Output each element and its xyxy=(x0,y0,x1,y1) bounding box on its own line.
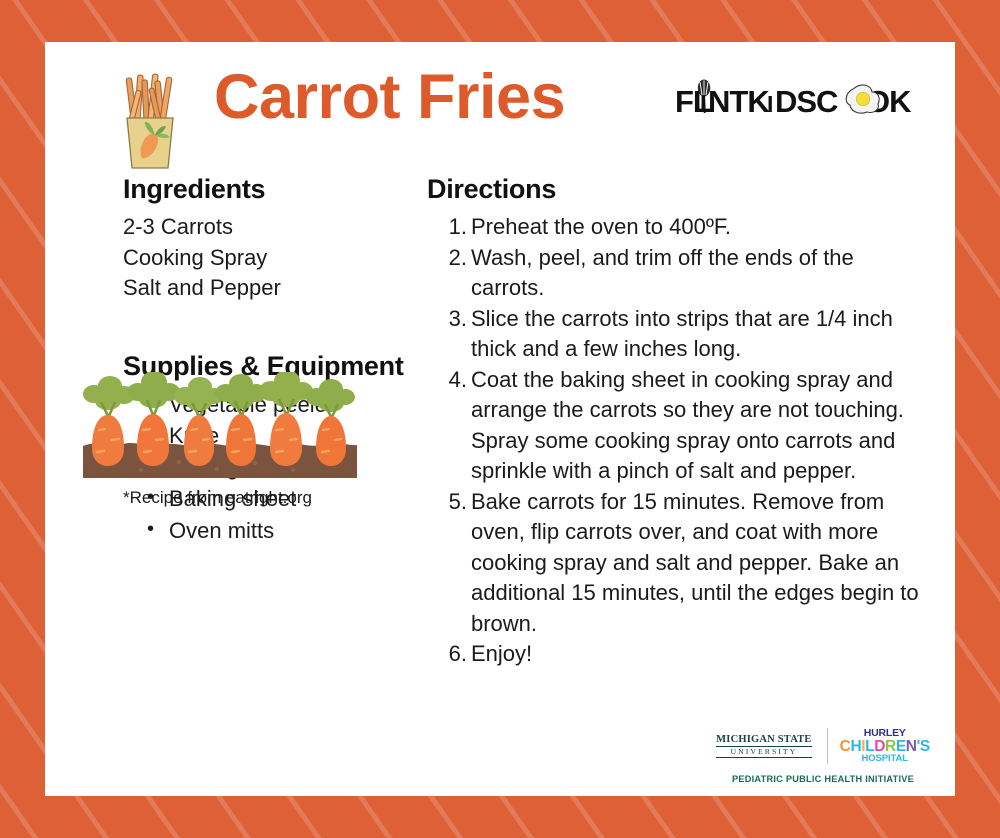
childrens-letter: R xyxy=(885,738,896,755)
ingredient-line: 2-3 Carrots xyxy=(123,212,423,243)
svg-text:DS: DS xyxy=(775,84,816,119)
directions-heading: Directions xyxy=(427,174,929,205)
right-column: Directions 1. Preheat the oven to 400ºF.… xyxy=(423,174,929,670)
footer-logos: MICHIGAN STATE UNIVERSITY HURLEY CHILDRE… xyxy=(715,724,931,784)
recipe-source-note: *Recipe from eatright.org xyxy=(123,488,312,508)
ingredient-line: Salt and Pepper xyxy=(123,273,423,304)
hurley-childrens-hospital-logo: HURLEY CHILDREN'S HOSPITAL xyxy=(836,728,930,764)
ingredients-section: Ingredients 2-3 Carrots Cooking Spray Sa… xyxy=(123,174,423,304)
step-number: 6. xyxy=(429,639,467,670)
carrot-fries-carton-icon xyxy=(119,72,181,172)
directions-list: 1. Preheat the oven to 400ºF. 2. Wash, p… xyxy=(429,212,929,670)
childrens-letter: L xyxy=(865,738,874,755)
svg-text:I: I xyxy=(767,91,773,117)
childrens-letter: N xyxy=(906,738,917,755)
card-body: Ingredients 2-3 Carrots Cooking Spray Sa… xyxy=(71,174,929,670)
list-item: Oven mitts xyxy=(145,515,423,547)
childrens-letter: D xyxy=(874,738,885,755)
step-number: 3. xyxy=(429,304,467,335)
step-text: Slice the carrots into strips that are 1… xyxy=(471,306,893,362)
hospital-wordmark: HOSPITAL xyxy=(840,754,930,764)
step-text: Coat the baking sheet in cooking spray a… xyxy=(471,367,904,484)
step-text: Enjoy! xyxy=(471,641,532,666)
msu-line-2: UNIVERSITY xyxy=(716,748,811,758)
direction-step: 6. Enjoy! xyxy=(429,639,929,670)
ingredient-line: Cooking Spray xyxy=(123,243,423,274)
direction-step: 1. Preheat the oven to 400ºF. xyxy=(429,212,929,243)
childrens-letter: H xyxy=(850,738,861,755)
michigan-state-university-logo: MICHIGAN STATE UNIVERSITY xyxy=(716,734,818,758)
left-column: Ingredients 2-3 Carrots Cooking Spray Sa… xyxy=(71,174,423,670)
ingredients-heading: Ingredients xyxy=(123,174,423,205)
childrens-letter: C xyxy=(840,738,851,755)
childrens-wordmark: CHILDREN'S xyxy=(840,739,930,755)
direction-step: 4. Coat the baking sheet in cooking spra… xyxy=(429,365,929,487)
page-title: Carrot Fries xyxy=(214,66,565,129)
direction-step: 5. Bake carrots for 15 minutes. Remove f… xyxy=(429,487,929,640)
direction-step: 3. Slice the carrots into strips that ar… xyxy=(429,304,929,365)
childrens-letter: E xyxy=(896,738,906,755)
step-number: 2. xyxy=(429,243,467,274)
step-text: Bake carrots for 15 minutes. Remove from… xyxy=(471,489,919,636)
step-number: 1. xyxy=(429,212,467,243)
logo-divider xyxy=(827,728,828,764)
svg-text:NTK: NTK xyxy=(708,84,770,119)
logo-row: MICHIGAN STATE UNIVERSITY HURLEY CHILDRE… xyxy=(715,724,931,768)
msu-line-1: MICHIGAN STATE xyxy=(716,734,811,747)
step-number: 5. xyxy=(429,487,467,518)
recipe-card-page: Carrot Fries FL NTK DS C OK I I xyxy=(0,0,1000,838)
svg-text:C: C xyxy=(816,84,838,119)
pediatric-public-health-initiative-text: PEDIATRIC PUBLIC HEALTH INITIATIVE xyxy=(715,774,931,784)
childrens-letter: S xyxy=(920,738,930,755)
recipe-card: Carrot Fries FL NTK DS C OK I I xyxy=(45,42,955,796)
step-text: Wash, peel, and trim off the ends of the… xyxy=(471,245,854,301)
step-text: Preheat the oven to 400ºF. xyxy=(471,214,731,239)
flint-kids-cook-logo: FL NTK DS C OK I I xyxy=(675,78,923,124)
card-header: Carrot Fries FL NTK DS C OK I I xyxy=(71,60,929,168)
direction-step: 2. Wash, peel, and trim off the ends of … xyxy=(429,243,929,304)
step-number: 4. xyxy=(429,365,467,396)
carrot-garden-illustration xyxy=(75,372,365,480)
